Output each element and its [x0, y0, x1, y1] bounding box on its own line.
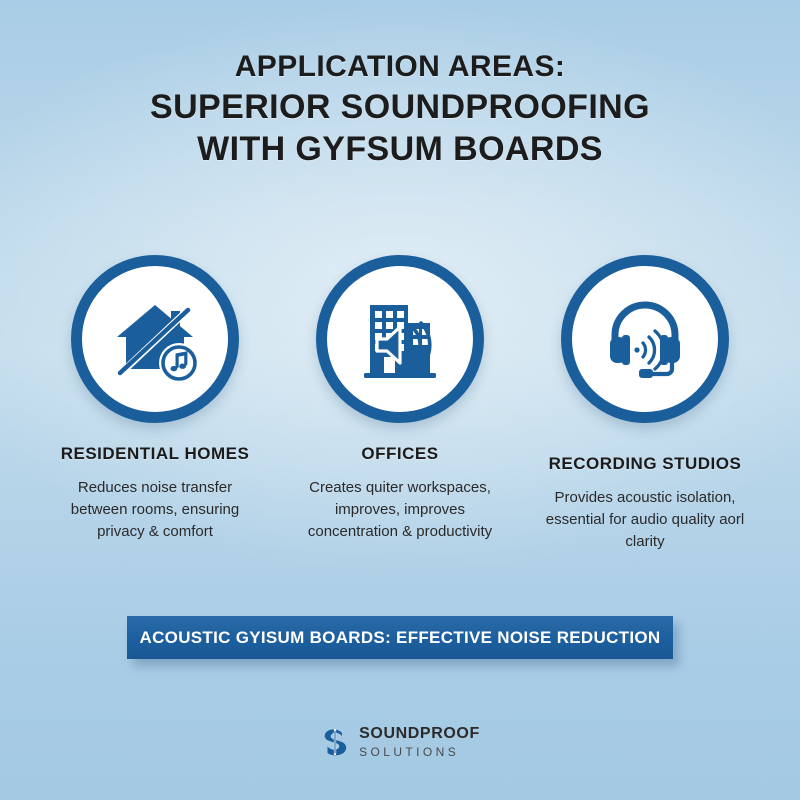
card-title-offices: OFFICES: [361, 443, 438, 465]
card-recording-studios: RECORDING STUDIOS Provides acoustic isol…: [523, 255, 768, 553]
card-description-offices: Creates quiter workspaces, improves, imp…: [293, 477, 508, 543]
office-building-speaker-icon: [350, 289, 450, 389]
title-line-2: SUPERIOR SOUNDPROOFING: [0, 86, 800, 128]
card-residential-homes: RESIDENTIAL HOMES Reduces noise transfer…: [33, 255, 278, 543]
brand-text: SOUNDPROOF SOLUTIONS: [359, 726, 480, 758]
card-description-recording-studios: Provides acoustic isolation, essential f…: [531, 487, 759, 553]
title-line-3: WITH GYFSUM BOARDS: [0, 128, 800, 170]
footer-branding: SOUNDPROOF SOLUTIONS: [0, 726, 800, 758]
page-title: APPLICATION AREAS: SUPERIOR SOUNDPROOFIN…: [0, 48, 800, 170]
title-line-1: APPLICATION AREAS:: [0, 48, 800, 86]
card-offices: OFFICES Creates quiter workspaces, impro…: [278, 255, 523, 543]
card-description-residential: Reduces noise transfer between rooms, en…: [48, 477, 263, 543]
summary-banner-text: ACOUSTIC GYISUM BOARDS: EFFECTIVE NOISE …: [140, 628, 661, 648]
icon-circle-offices: [316, 255, 484, 423]
brand-subtitle: SOLUTIONS: [359, 746, 480, 758]
card-title-recording-studios: RECORDING STUDIOS: [549, 453, 742, 475]
icon-circle-residential: [71, 255, 239, 423]
icon-circle-recording-studios: [561, 255, 729, 423]
house-music-note-icon: [105, 289, 205, 389]
summary-banner: ACOUSTIC GYISUM BOARDS: EFFECTIVE NOISE …: [127, 616, 673, 659]
brand-name: SOUNDPROOF: [359, 726, 480, 742]
card-title-residential: RESIDENTIAL HOMES: [61, 443, 250, 465]
application-areas-list: RESIDENTIAL HOMES Reduces noise transfer…: [0, 255, 800, 553]
infographic-poster: APPLICATION AREAS: SUPERIOR SOUNDPROOFIN…: [0, 0, 800, 800]
soundproof-s-logo-icon: [320, 726, 350, 758]
headset-soundwaves-icon: [595, 289, 695, 389]
